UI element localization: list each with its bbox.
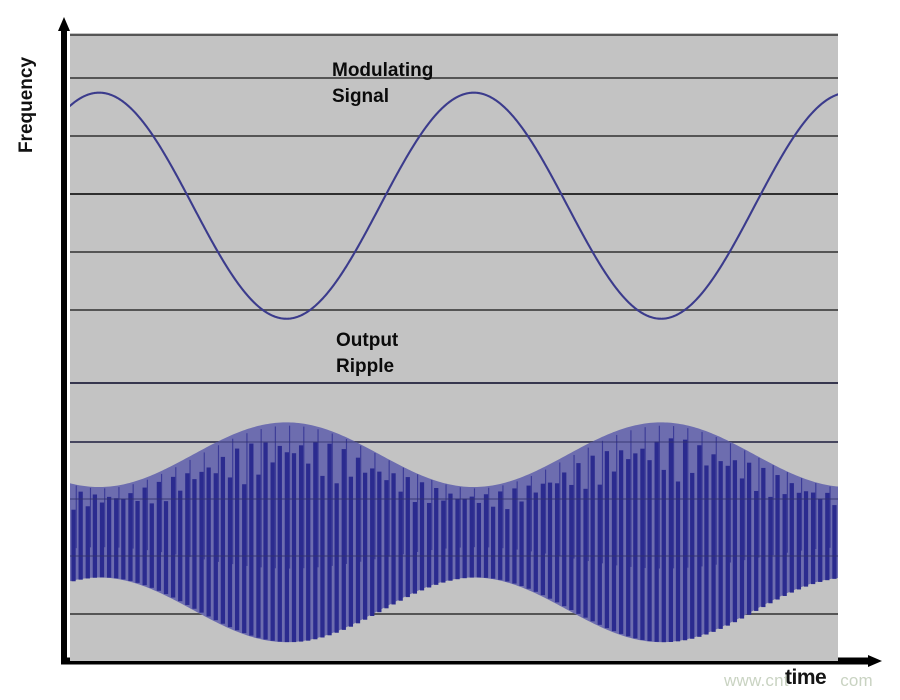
modulating-signal-curve (70, 93, 838, 319)
ripple-stroke (391, 473, 395, 604)
ripple-stroke (602, 441, 603, 564)
ripple-stroke (235, 449, 239, 631)
ripple-stroke (427, 503, 431, 588)
output-ripple-label: Output Ripple (336, 328, 398, 380)
ripple-stroke (189, 460, 190, 557)
ripple-stroke (474, 488, 475, 547)
chart-figure: Frequency (0, 0, 900, 700)
ripple-stroke (588, 448, 589, 561)
ripple-stroke (335, 483, 339, 632)
ripple-stroke (534, 493, 538, 592)
ripple-stroke (488, 488, 489, 548)
ripple-stroke (342, 449, 346, 630)
ripple-stroke (370, 468, 374, 616)
ripple-stroke (185, 473, 189, 605)
ripple-stroke (207, 467, 211, 616)
ripple-stroke (744, 450, 745, 560)
ripple-stroke (431, 480, 432, 550)
ripple-stroke (133, 484, 134, 548)
plot-area: Modulating Signal Output Ripple (70, 33, 838, 661)
ripple-stroke (79, 492, 83, 580)
ripple-stroke (90, 488, 91, 548)
ripple-stroke (403, 468, 404, 555)
ripple-stroke (818, 499, 822, 582)
ripple-stroke (640, 449, 644, 640)
ripple-stroke (811, 493, 815, 585)
ripple-stroke (171, 477, 175, 598)
ripple-stroke (121, 499, 125, 579)
ripple-stroke (417, 474, 418, 552)
ripple-stroke (178, 491, 182, 602)
ripple-stroke (346, 439, 347, 564)
ripple-stroke (659, 426, 660, 569)
ripple-stroke (118, 487, 119, 547)
output-ripple-label-line1: Output (336, 328, 398, 354)
ripple-stroke (519, 501, 523, 585)
ripple-stroke (790, 483, 794, 592)
ripple-stroke (562, 472, 566, 606)
ripple-stroke (143, 488, 147, 586)
ripple-stroke (576, 463, 580, 614)
ripple-stroke (559, 462, 560, 556)
ripple-stroke (825, 493, 829, 580)
ripple-stroke (676, 482, 680, 642)
ripple-stroke (512, 488, 516, 583)
ripple-stroke (591, 456, 595, 622)
ripple-stroke (434, 488, 438, 585)
ripple-stroke (484, 494, 488, 578)
ripple-stroke (313, 442, 317, 639)
ripple-stroke (801, 478, 802, 550)
ripple-stroke (761, 468, 765, 607)
ripple-stroke (754, 491, 758, 611)
ripple-stroke (815, 483, 816, 549)
ripple-stroke (360, 446, 361, 562)
ripple-stroke (673, 426, 674, 568)
ripple-stroke (299, 445, 303, 641)
ripple-stroke (647, 460, 651, 641)
plot-canvas (70, 33, 838, 661)
ripple-stroke (716, 437, 717, 565)
ripple-stroke (289, 426, 290, 569)
ripple-stroke (527, 486, 531, 589)
ripple-stroke (204, 452, 205, 559)
ripple-stroke (292, 453, 296, 642)
ripple-stroke (71, 510, 75, 582)
ripple-stroke (242, 484, 246, 633)
ripple-stroke (327, 444, 331, 636)
ripple-stroke (470, 497, 474, 578)
ripple-stroke (448, 494, 452, 581)
ripple-stroke (441, 501, 445, 583)
ripple-stroke (214, 473, 218, 620)
ripple-stroke (271, 462, 275, 640)
ripple-stroke (135, 501, 139, 583)
ripple-stroke (733, 460, 737, 622)
ripple-stroke (655, 441, 659, 641)
ripple-stroke (787, 472, 788, 553)
ripple-stroke (150, 503, 154, 587)
ripple-stroke (413, 502, 417, 594)
ripple-stroke (161, 474, 162, 552)
ripple-stroke (758, 458, 759, 558)
ripple-stroke (278, 446, 282, 642)
ripple-stroke (768, 497, 772, 603)
ripple-stroke (541, 484, 545, 595)
ripple-stroke (332, 434, 333, 566)
ripple-stroke (164, 501, 168, 594)
ripple-stroke (531, 476, 532, 551)
ripple-stroke (377, 472, 381, 613)
ripple-stroke (832, 505, 836, 579)
ripple-stroke (114, 498, 118, 578)
ripple-stroke (697, 445, 701, 637)
ripple-stroke (598, 485, 602, 625)
ripple-stroke (147, 480, 148, 550)
ripple-stroke (107, 497, 111, 578)
ripple-stroke (175, 467, 176, 554)
output-ripple-waveform (70, 383, 838, 642)
site-watermark-prefix: www.cnt (724, 671, 789, 690)
ripple-stroke (445, 484, 446, 548)
ripple-stroke (285, 452, 289, 642)
ripple-stroke (783, 494, 787, 596)
ripple-stroke (306, 464, 310, 641)
ripple-stroke (616, 435, 617, 565)
ripple-stroke (612, 472, 616, 632)
ripple-stroke (491, 507, 495, 579)
ripple-stroke (555, 483, 559, 602)
ripple-stroke (232, 439, 233, 564)
ripple-stroke (775, 475, 779, 599)
ripple-stroke (389, 460, 390, 556)
ripple-stroke (463, 499, 467, 579)
ripple-stroke (773, 465, 774, 555)
modulating-signal-label-line2: Signal (332, 84, 433, 110)
ripple-stroke (374, 453, 375, 559)
ripple-stroke (249, 444, 253, 636)
ripple-stroke (619, 450, 623, 634)
ripple-stroke (669, 438, 673, 642)
ripple-stroke (157, 482, 161, 591)
ripple-stroke (128, 493, 132, 581)
ripple-stroke (626, 459, 630, 636)
ripple-stroke (583, 489, 587, 618)
ripple-stroke (804, 491, 808, 586)
ripple-stroke (406, 477, 410, 597)
ripple-stroke (548, 483, 552, 599)
ripple-stroke (704, 465, 708, 634)
ripple-stroke (104, 488, 105, 547)
ripple-stroke (719, 461, 723, 629)
ripple-stroke (455, 499, 459, 580)
ripple-stroke (687, 428, 688, 568)
ripple-stroke (246, 433, 247, 566)
ripple-stroke (275, 426, 276, 568)
ripple-stroke (726, 466, 730, 626)
ripple-stroke (605, 451, 609, 628)
ripple-stroke (517, 481, 518, 549)
ripple-stroke (100, 503, 104, 578)
ripple-stroke (498, 491, 502, 579)
ripple-stroke (263, 443, 267, 640)
ripple-stroke (399, 492, 403, 601)
modulating-signal-label: Modulating Signal (332, 58, 433, 110)
ripple-stroke (645, 427, 646, 568)
ripple-stroke (573, 455, 574, 559)
ripple-stroke (711, 454, 715, 632)
ripple-stroke (261, 429, 262, 567)
ripple-stroke (829, 486, 830, 547)
ripple-stroke (460, 487, 461, 547)
modulating-signal-label-line1: Modulating (332, 58, 433, 84)
ripple-stroke (502, 485, 503, 548)
ripple-stroke (199, 472, 203, 613)
site-watermark-suffix: com (840, 671, 873, 690)
ripple-stroke (477, 503, 481, 578)
ripple-stroke (797, 493, 801, 590)
ripple-stroke (683, 440, 687, 641)
ripple-stroke (545, 470, 546, 554)
ripple-stroke (317, 429, 318, 567)
ripple-stroke (633, 453, 637, 638)
ripple-stroke (303, 427, 304, 569)
ripple-stroke (320, 476, 324, 638)
ripple-stroke (730, 443, 731, 562)
ripple-stroke (356, 458, 360, 624)
ripple-stroke (76, 486, 77, 549)
ripple-stroke (221, 457, 225, 624)
ripple-stroke (569, 485, 573, 610)
ripple-stroke (228, 477, 232, 627)
output-ripple-label-line2: Ripple (336, 354, 398, 380)
ripple-stroke (747, 463, 751, 615)
x-axis-label: time (785, 666, 826, 690)
ripple-stroke (93, 494, 97, 577)
ripple-stroke (505, 509, 509, 581)
ripple-stroke (218, 445, 219, 562)
ripple-stroke (363, 473, 367, 620)
ripple-stroke (86, 506, 90, 578)
